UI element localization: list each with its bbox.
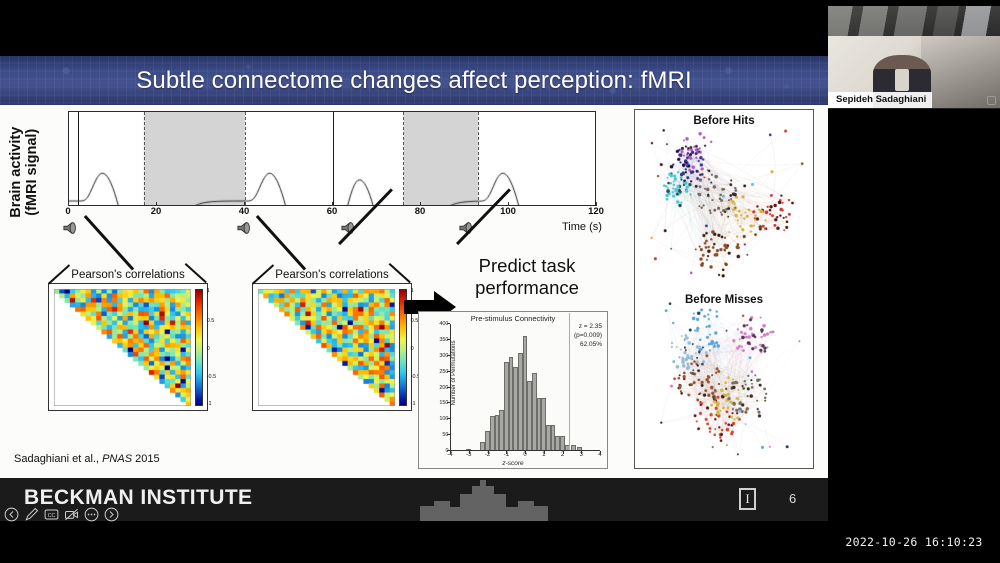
- axis-tick-mark: [506, 451, 507, 454]
- axis-tick-mark: [447, 323, 450, 324]
- matrix-caption: Pearson's correlations: [48, 269, 208, 281]
- fmri-timecourse-figure: Brain activity (fMRI signal) 02040608010…: [6, 109, 616, 244]
- axis-tick-mark: [563, 451, 564, 454]
- block-boundary-line: [478, 112, 479, 205]
- histogram-annotation: z = 2.35 (p=0.009) 62.05%: [574, 323, 602, 349]
- axis-tick-mark: [596, 202, 597, 206]
- block-boundary-line: [144, 112, 145, 205]
- matrix-heatmap: [54, 289, 191, 406]
- pen-icon[interactable]: [24, 507, 39, 522]
- citation-authors: Sadaghiani et al.,: [14, 453, 99, 465]
- timecourse-x-axis: 020406080100120: [68, 206, 596, 222]
- recording-timestamp: 2022-10-26 16:10:23: [828, 535, 1000, 549]
- histogram-bar: [466, 449, 471, 450]
- correlation-matrix-panel-2: Pearson's correlations 1 0.5 0 -0.5 -1: [252, 269, 412, 411]
- participant-name-label: Sepideh Sadaghiani: [828, 92, 932, 108]
- histogram-y-tick: 50: [442, 432, 448, 438]
- stimulus-onset-line: [78, 112, 79, 205]
- timecourse-x-tick: 100: [500, 206, 516, 217]
- axis-tick-mark: [508, 202, 509, 206]
- slide-page-number: 6: [789, 491, 796, 506]
- axis-tick-mark: [447, 402, 450, 403]
- timecourse-x-tick: 20: [151, 206, 162, 217]
- screen-recording-frame: Subtle connectome changes affect percept…: [0, 0, 1000, 563]
- axis-tick-mark: [544, 451, 545, 454]
- citation-year: 2015: [135, 453, 159, 465]
- network-label-hits: Before Hits: [635, 115, 813, 127]
- axis-tick-mark: [525, 451, 526, 454]
- room-overview-strip: [828, 6, 1000, 36]
- histogram-bar: [577, 447, 582, 450]
- permutation-histogram: Pre-stimulus Connectivity Number of Perm…: [418, 311, 608, 469]
- colorbar-tick: 1: [207, 288, 210, 294]
- annotation-z: z = 2.35: [574, 323, 602, 332]
- network-label-misses: Before Misses: [635, 294, 813, 306]
- annotation-p: (p=0.009): [574, 332, 602, 341]
- matrix-box: 1 0.5 0 -0.5 -1: [252, 283, 412, 411]
- correlation-matrix-panel-1: Pearson's correlations 1 0.5 0 -0.5 -1: [48, 269, 208, 411]
- axis-tick-mark: [420, 202, 421, 206]
- axis-tick-mark: [447, 371, 450, 372]
- histogram-y-tick: 200: [439, 385, 448, 391]
- presentation-slide[interactable]: Subtle connectome changes affect percept…: [0, 0, 828, 563]
- building-silhouette-icon: [420, 480, 570, 521]
- block-boundary-line: [245, 112, 246, 205]
- slide-title-bar: Subtle connectome changes affect percept…: [0, 56, 828, 105]
- axis-tick-mark: [447, 418, 450, 419]
- timecourse-x-tick: 120: [588, 206, 604, 217]
- stimulus-onset-line: [333, 112, 334, 205]
- axis-tick-mark: [581, 451, 582, 454]
- annotation-percent: 62.05%: [574, 341, 602, 350]
- axis-tick-mark: [244, 202, 245, 206]
- histogram-y-tick: 100: [439, 416, 448, 422]
- axis-tick-mark: [447, 387, 450, 388]
- svg-text:CC: CC: [48, 513, 56, 519]
- more-options-icon[interactable]: [84, 507, 99, 522]
- predict-task-performance-text: Predict task performance: [452, 255, 602, 299]
- axis-tick-mark: [68, 202, 69, 206]
- speaker-icon: [62, 220, 80, 236]
- slide-title: Subtle connectome changes affect percept…: [0, 56, 828, 105]
- back-arrow-icon[interactable]: [4, 507, 19, 522]
- timecourse-x-axis-label: Time (s): [562, 221, 602, 233]
- axis-tick-mark: [447, 355, 450, 356]
- matrix-box: 1 0.5 0 -0.5 -1: [48, 283, 208, 411]
- colorbar-tick: 0: [207, 346, 210, 352]
- letterbox-bottom: [0, 521, 828, 563]
- network-graph-before-misses: Before Misses: [635, 289, 813, 468]
- matrix-colorbar: 1 0.5 0 -0.5 -1: [195, 289, 203, 406]
- right-sidebar: Sepideh Sadaghiani 2022-10-26 16:10:23: [828, 0, 1000, 563]
- timecourse-x-tick: 40: [239, 206, 250, 217]
- matrix-heatmap: [258, 289, 395, 406]
- slide-citation: Sadaghiani et al., PNAS 2015: [14, 453, 160, 465]
- timecourse-x-tick: 80: [415, 206, 426, 217]
- timecourse-x-tick: 0: [65, 206, 70, 217]
- axis-tick-mark: [447, 339, 450, 340]
- histogram-y-tick: 150: [439, 400, 448, 406]
- presentation-controls[interactable]: CC: [4, 507, 119, 522]
- axis-tick-mark: [600, 451, 601, 454]
- axis-tick-mark: [488, 451, 489, 454]
- histogram-y-tick: 400: [439, 321, 448, 327]
- timecourse-x-tick: 60: [327, 206, 338, 217]
- colorbar-tick: 0: [411, 346, 414, 352]
- forward-arrow-icon[interactable]: [104, 507, 119, 522]
- predict-line-2: performance: [475, 277, 579, 298]
- block-boundary-line: [403, 112, 404, 205]
- histogram-bar: [571, 445, 576, 450]
- illinois-logo: I: [739, 488, 756, 510]
- histogram-y-tick: 250: [439, 369, 448, 375]
- colorbar-tick: -1: [207, 401, 212, 407]
- y-label-line1: Brain activity: [8, 127, 24, 218]
- axis-tick-mark: [469, 451, 470, 454]
- camera-off-icon[interactable]: [64, 507, 79, 522]
- timecourse-plot: [68, 111, 596, 206]
- axis-tick-mark: [332, 202, 333, 206]
- colorbar-tick: -1: [411, 401, 416, 407]
- network-graphs-panel: Before Hits Before Misses: [634, 109, 814, 469]
- histogram-y-tick: 350: [439, 337, 448, 343]
- colorbar-tick: -0.5: [207, 374, 216, 380]
- histogram-x-label: z-score: [419, 460, 607, 467]
- matrix-caption: Pearson's correlations: [252, 269, 412, 281]
- predict-line-1: Predict task: [479, 255, 576, 276]
- closed-captions-icon[interactable]: CC: [44, 507, 59, 522]
- axis-tick-mark: [156, 202, 157, 206]
- slide-footer: BECKMAN INSTITUTE I 6: [0, 478, 828, 521]
- slide-content-area: Brain activity (fMRI signal) 02040608010…: [0, 105, 828, 478]
- z-threshold-line: [569, 313, 570, 450]
- speaker-icon: [236, 220, 254, 236]
- histogram-y-axis: [450, 324, 451, 451]
- webcam-tile[interactable]: Sepideh Sadaghiani: [828, 6, 1000, 109]
- network-graph-before-hits: Before Hits: [635, 110, 813, 289]
- letterbox-top: [0, 0, 828, 56]
- y-label-line2: (fMRI signal): [24, 129, 40, 216]
- colorbar-tick: 0.5: [207, 318, 215, 324]
- histogram-y-tick: 300: [439, 353, 448, 359]
- timecourse-y-axis-label: Brain activity (fMRI signal): [8, 102, 40, 242]
- axis-tick-mark: [450, 451, 451, 454]
- citation-journal: PNAS: [102, 453, 132, 465]
- axis-tick-mark: [447, 434, 450, 435]
- mic-status-icon: [987, 96, 996, 105]
